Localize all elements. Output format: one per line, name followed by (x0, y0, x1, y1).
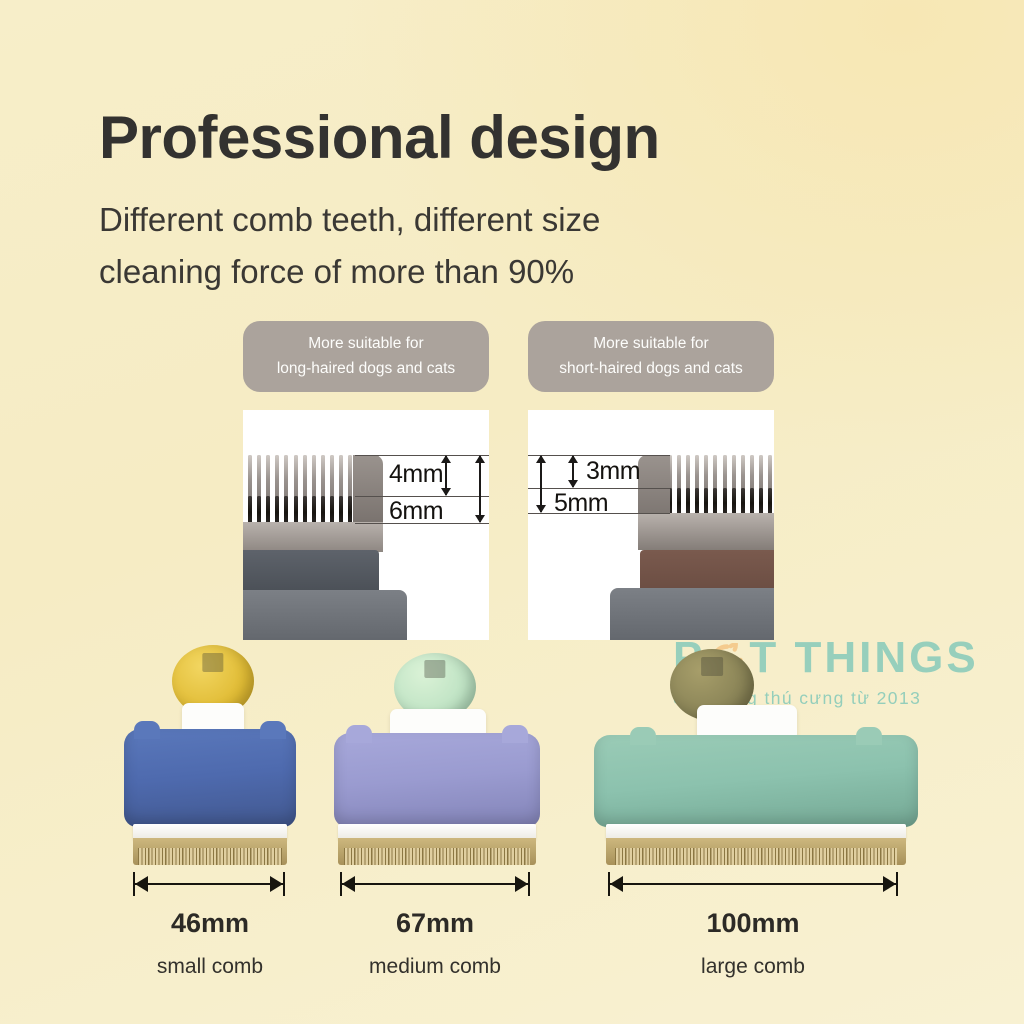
product-medium-comb (332, 645, 542, 875)
blade-shaft-right (638, 513, 774, 550)
dimarrow-inner-right (572, 456, 574, 487)
small-comb-ear-right (260, 721, 286, 739)
large-comb-knob-tag (701, 657, 723, 676)
badge-short-haired-line-2: short-haired dogs and cats (559, 357, 743, 381)
product-large-comb (592, 645, 922, 875)
large-comb-ear-right (856, 727, 882, 745)
medium-comb-rake (344, 848, 530, 865)
medium-comb-size-value: 67mm (359, 908, 511, 939)
badge-short-haired-line-1: More suitable for (593, 332, 708, 356)
page-title: Professional design (99, 106, 660, 169)
dimline-top-left (355, 455, 489, 456)
dimarrow-inner-left (445, 456, 447, 495)
dimtext-inner-left: 4mm (389, 460, 443, 489)
blade-base-left (243, 550, 379, 590)
small-comb-rake (138, 848, 283, 865)
blade-shaft-left (243, 522, 383, 552)
subtitle-line-2: cleaning force of more than 90% (99, 246, 600, 298)
badge-long-haired-line-1: More suitable for (308, 332, 423, 356)
small-comb-teeth (133, 838, 287, 865)
large-comb-ear-left (630, 727, 656, 745)
large-comb-size-name: large comb (667, 955, 839, 979)
subtitle-line-1: Different comb teeth, different size (99, 194, 600, 246)
large-comb-measure-arrow (608, 872, 898, 896)
small-comb-ear-left (134, 721, 160, 739)
handle-body-left (243, 590, 407, 640)
badge-long-haired: More suitable for long-haired dogs and c… (243, 321, 489, 392)
medium-comb-measure-arrow (340, 872, 530, 896)
comb-teeth-dark-right (668, 488, 774, 513)
small-comb-handle (124, 729, 296, 827)
medium-comb-size-name: medium comb (349, 955, 521, 979)
small-comb-size-value: 46mm (134, 908, 286, 939)
detail-photo-long-hair: 4mm 6mm (243, 410, 489, 640)
badge-short-haired: More suitable for short-haired dogs and … (528, 321, 774, 392)
product-infographic: Professional design Different comb teeth… (0, 0, 1024, 1024)
blade-base-right (640, 550, 774, 592)
badge-long-haired-line-2: long-haired dogs and cats (277, 357, 455, 381)
large-comb-handle (594, 735, 918, 827)
medium-comb-knob-tag (424, 660, 445, 678)
dimtext-outer-left: 6mm (389, 497, 443, 526)
medium-comb-handle (334, 733, 540, 827)
large-comb-teeth (606, 838, 906, 865)
page-subtitle: Different comb teeth, different size cle… (99, 194, 600, 298)
medium-comb-ear-left (346, 725, 372, 743)
medium-comb-teeth (338, 838, 536, 865)
large-comb-rake (615, 848, 897, 865)
small-comb-measure-arrow (133, 872, 285, 896)
dimtext-outer-right: 5mm (554, 489, 608, 518)
small-comb-knob-tag (202, 653, 223, 672)
detail-photo-short-hair: 3mm 5mm (528, 410, 774, 640)
dimarrow-outer-right (540, 456, 542, 512)
dimtext-inner-right: 3mm (586, 457, 640, 486)
product-small-comb (118, 645, 303, 875)
medium-comb-ear-right (502, 725, 528, 743)
dimline-top-right (528, 455, 670, 456)
large-comb-size-value: 100mm (677, 908, 829, 939)
small-comb-size-name: small comb (124, 955, 296, 979)
dimarrow-outer-left (479, 456, 481, 522)
